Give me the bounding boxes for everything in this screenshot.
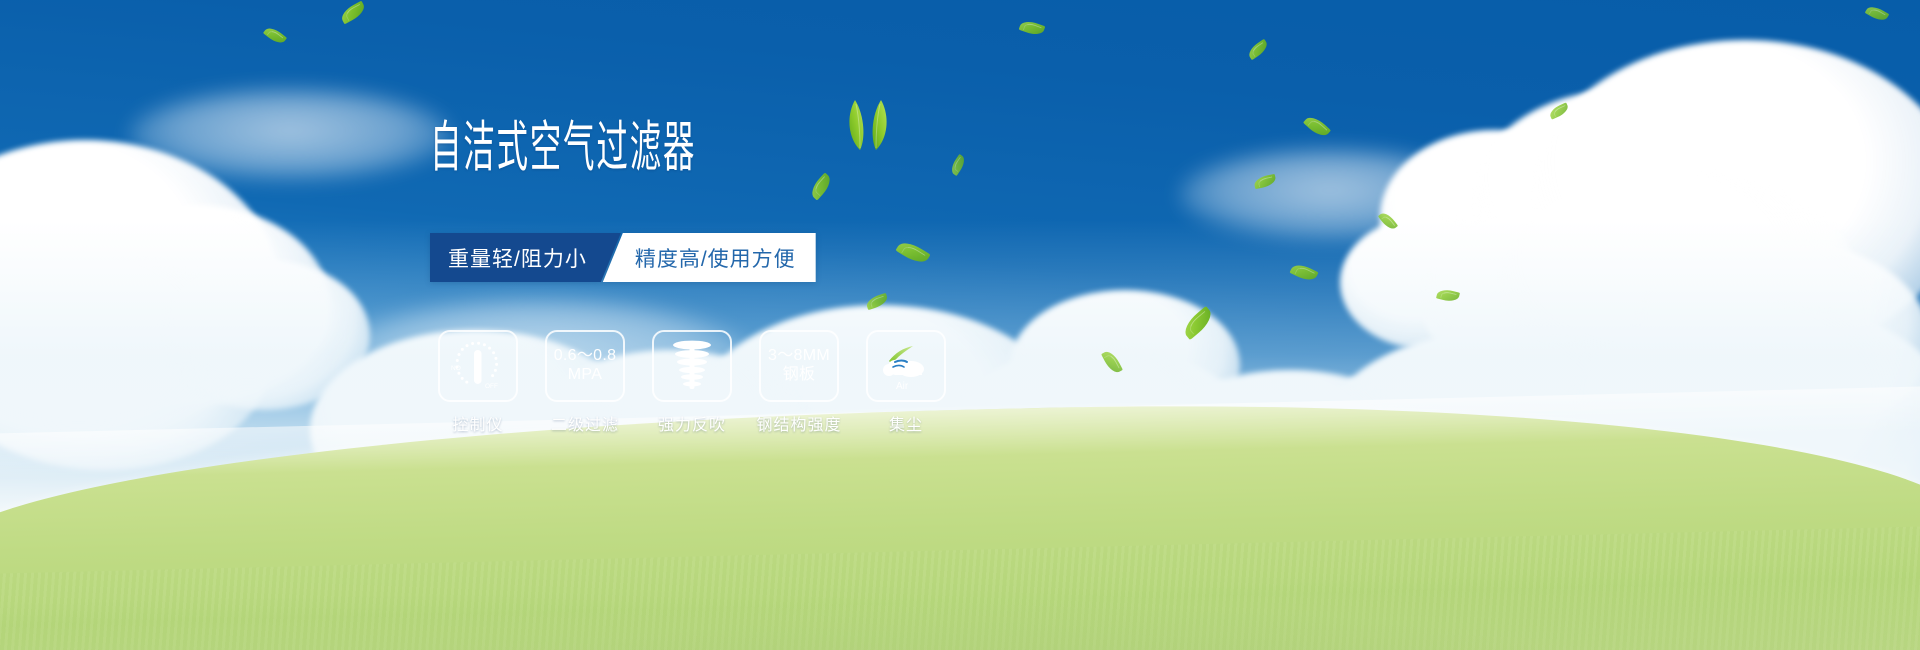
stacked-filter-discs-icon [662,337,722,395]
dial-on-label: NO [451,365,461,372]
cloud-puff [0,255,270,470]
air-label: Air [896,381,909,392]
cloud-puff [1340,215,1520,350]
grass-highlight [0,385,1920,481]
pressure-text-icon: 0.6～0.8 MPA [554,347,617,385]
feature-icon-box [652,330,732,402]
cloud-puff [0,185,160,330]
feature-dust-collection: Air 集尘 [866,330,946,435]
feature-tag-row: 重量轻/阻力小 精度高/使用方便 [430,233,816,282]
feature-steel-strength: 3～8MM 钢板 钢结构强度 [759,330,839,435]
tag-weight-resistance: 重量轻/阻力小 [430,233,621,282]
floating-leaf-icon [1303,113,1331,140]
cloud-puff [1500,170,1860,400]
floating-leaf-icon [1865,3,1890,24]
feature-icon-box: Air [866,330,946,402]
feature-strong-blowback: 强力反吹 [652,330,732,435]
floating-leaf-icon [263,24,287,46]
floating-leaf-icon [895,238,930,268]
floating-leaf-icon [807,172,834,200]
cloud-wisp [130,90,450,180]
floating-leaf-icon [1101,349,1123,376]
gauge-dial-icon: NO OFF [446,337,510,395]
cloud-puff [1610,60,1790,190]
floating-leaf-icon [1289,261,1318,284]
tag-precision-convenience: 精度高/使用方便 [603,233,816,282]
cloud-puff [1530,40,1920,360]
page-title: 自洁式空气过滤器 [430,120,820,175]
floating-leaf-icon [1180,306,1216,340]
feature-label: 钢结构强度 [757,411,842,435]
feature-icon-box: 0.6～0.8 MPA [545,330,625,402]
cloud-puff [1380,130,1610,305]
floating-leaf-icon [1246,39,1270,60]
cloud-puff [1470,90,1770,320]
floating-leaf-icon [1436,288,1460,304]
grass-hill-front [0,385,1920,650]
floating-leaf-icon [1378,210,1398,232]
feature-controller: NO OFF 控制仪 [438,330,518,435]
floating-leaf-icon [865,293,889,310]
air-cloud-icon: Air [873,337,939,395]
floating-leaf-icon [338,1,367,25]
feature-icon-row: NO OFF 控制仪 0.6～0.8 MPA 二级过滤 [438,330,946,435]
feature-label: 二级过滤 [551,411,619,435]
cloud-puff [0,140,280,440]
cloud-wisp [1180,150,1480,240]
feature-two-stage-filter: 0.6～0.8 MPA 二级过滤 [545,330,625,435]
feature-label: 强力反吹 [658,411,726,435]
dial-off-label: OFF [485,383,498,390]
banner-content: 自洁式空气过滤器 [430,120,1110,175]
floating-leaf-icon [1548,102,1570,119]
floating-leaf-icon [1253,174,1277,189]
feature-icon-box: NO OFF [438,330,518,402]
feature-label: 集尘 [889,411,923,435]
steel-plate-text-icon: 3～8MM 钢板 [768,347,830,385]
floating-leaf-icon [1019,18,1046,37]
cloud-puff [1630,240,1920,440]
cloud-puff [60,205,330,405]
feature-icon-box: 3～8MM 钢板 [759,330,839,402]
cloud-puff [160,260,370,410]
product-banner: 自洁式空气过滤器 重量轻/阻力小 精度高/使用方便 [0,0,1920,650]
grass-texture [0,525,1920,650]
cloud-puff [1420,210,1680,390]
feature-label: 控制仪 [452,411,503,435]
